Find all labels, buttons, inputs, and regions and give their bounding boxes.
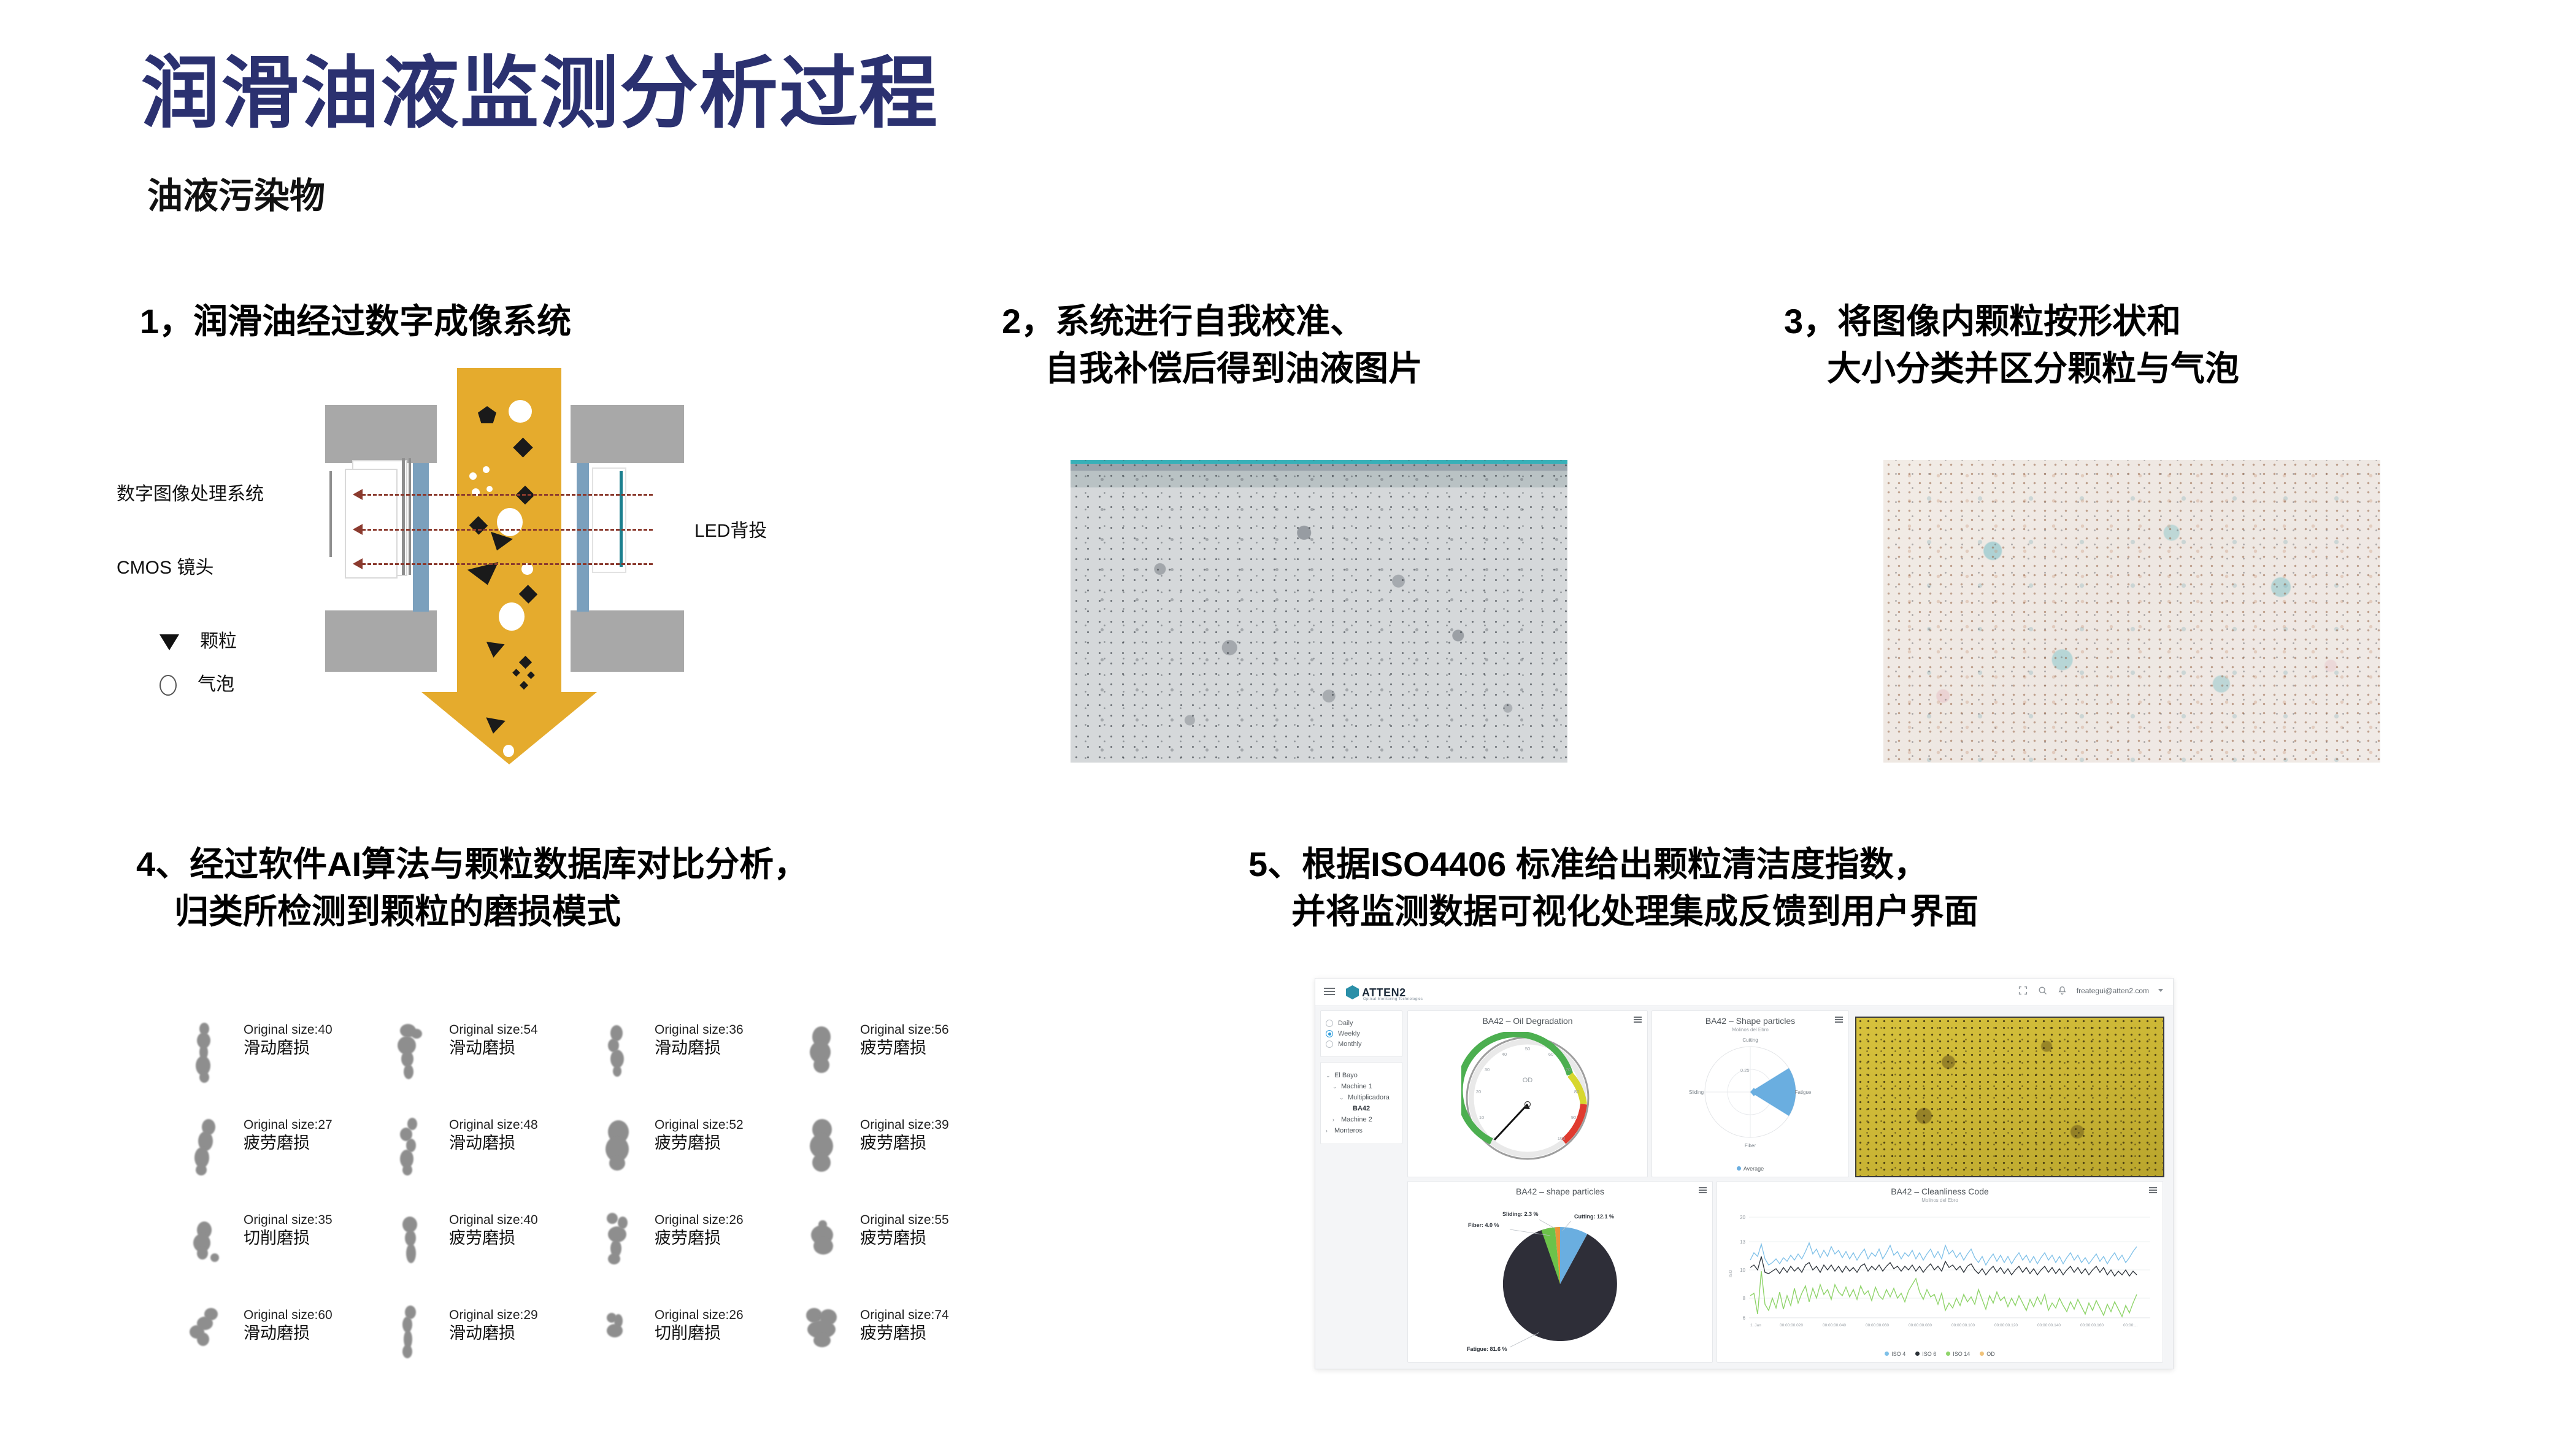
pie-chart: Cutting: 12.1 % Sliding: 2.3 % Fiber: 4.… — [1431, 1201, 1689, 1358]
tree-item-machine-1[interactable]: ⌄ Machine 1 — [1326, 1083, 1397, 1090]
svg-text:10: 10 — [1740, 1267, 1745, 1273]
svg-text:00:00:...: 00:00:... — [2123, 1323, 2138, 1328]
particle-blob-image — [592, 1020, 648, 1088]
svg-text:Sliding: Sliding — [1689, 1090, 1704, 1095]
particle-size-label: Original size:27 — [244, 1118, 333, 1133]
svg-text:30: 30 — [1485, 1067, 1490, 1072]
svg-text:Sliding: 2.3 %: Sliding: 2.3 % — [1502, 1211, 1539, 1217]
particle-wear-label: 切削磨损 — [244, 1228, 333, 1249]
panel-title: BA42 – shape particles — [1408, 1182, 1712, 1196]
particle-size-label: Original size:55 — [860, 1213, 949, 1228]
legend-dot-icon — [1737, 1166, 1741, 1171]
particle-blob-image — [592, 1115, 648, 1183]
light-ray — [362, 494, 653, 496]
particle-shape — [527, 671, 535, 679]
particle-size-label: Original size:26 — [655, 1308, 744, 1323]
svg-text:00:00:00.160: 00:00:00.160 — [2080, 1323, 2104, 1328]
particle-size-label: Original size:54 — [449, 1023, 538, 1038]
svg-text:00:00:00.100: 00:00:00.100 — [1951, 1323, 1975, 1328]
particle-blob-image — [181, 1020, 237, 1088]
bubble-shape — [469, 472, 477, 480]
oil-flow-channel — [457, 368, 561, 699]
legend-iso4[interactable]: ISO 4 — [1885, 1351, 1905, 1357]
oil-sample-image-step2 — [1071, 460, 1567, 763]
particle-card: Original size:35 切削磨损 — [175, 1199, 380, 1294]
svg-text:20: 20 — [1476, 1089, 1481, 1094]
particle-card: Original size:26 切削磨损 — [586, 1294, 791, 1390]
housing-block-bottom-right — [571, 610, 684, 672]
panel-shape-particles-pie: BA42 – shape particles — [1407, 1181, 1713, 1363]
chevron-down-icon[interactable] — [2158, 989, 2163, 992]
tree-item-machine-2[interactable]: › Machine 2 — [1326, 1116, 1397, 1123]
legend-dot-icon — [1946, 1352, 1950, 1356]
housing-block-top-left — [325, 405, 437, 463]
particle-size-label: Original size:39 — [860, 1118, 949, 1133]
legend-label: ISO 4 — [1891, 1351, 1905, 1357]
light-ray — [362, 529, 653, 531]
tree-item-label: Machine 1 — [1341, 1083, 1372, 1090]
svg-text:100: 100 — [1558, 1136, 1566, 1141]
particle-card: Original size:40 疲劳磨损 — [380, 1199, 586, 1294]
panel-title: BA42 – Oil Degradation — [1408, 1011, 1647, 1026]
particle-card: Original size:56 疲劳磨损 — [791, 1009, 997, 1104]
bubble-shape — [509, 400, 532, 423]
chevron-down-icon[interactable]: ⌄ — [1332, 1083, 1338, 1090]
step-5-line1: 5、根据ISO4406 标准给出颗粒清洁度指数， — [1248, 845, 1928, 883]
svg-text:Fiber: Fiber — [1745, 1143, 1756, 1148]
step-1-heading: 1，润滑油经过数字成像系统 — [140, 298, 571, 345]
particle-wear-label: 滑动磨损 — [655, 1038, 744, 1059]
svg-text:70: 70 — [1566, 1067, 1571, 1072]
legend-label: ISO 14 — [1953, 1351, 1970, 1357]
particle-blob-image — [386, 1210, 443, 1278]
tree-item-ba42[interactable]: BA42 — [1326, 1105, 1397, 1112]
led-emitter-bar — [620, 471, 623, 567]
tree-item-multiplicadora[interactable]: ⌄ Multiplicadora — [1326, 1094, 1397, 1101]
legend-dot-icon — [1885, 1352, 1889, 1356]
particle-classification-grid: Original size:40 滑动磨损 Original size:54 滑… — [175, 1009, 997, 1390]
particle-size-label: Original size:35 — [244, 1213, 333, 1228]
asset-tree-card: ⌄ El Bayo ⌄ Machine 1 ⌄ Multiplicadora B… — [1320, 1062, 1402, 1144]
particle-card: Original size:52 疲劳磨损 — [586, 1104, 791, 1199]
tree-item-label: Monteros — [1334, 1127, 1363, 1134]
legend-label: ISO 6 — [1922, 1351, 1936, 1357]
page-subtitle: 油液污染物 — [147, 167, 325, 218]
panel-subtitle: Molinos del Ebro — [1717, 1196, 2163, 1203]
particle-wear-label: 滑动磨损 — [244, 1038, 333, 1059]
panel-menu-icon[interactable] — [1699, 1187, 1707, 1193]
particle-size-label: Original size:52 — [655, 1118, 744, 1133]
particle-card: Original size:74 疲劳磨损 — [791, 1294, 997, 1390]
particle-size-label: Original size:26 — [655, 1213, 744, 1228]
topbar-actions: freategui@atten2.com — [2018, 985, 2163, 996]
panel-title: BA42 – Cleanliness Code — [1717, 1182, 2163, 1196]
particle-wear-label: 滑动磨损 — [449, 1038, 538, 1059]
radio-label: Monthly — [1338, 1040, 1362, 1048]
particle-wear-label: 疲劳磨损 — [655, 1133, 744, 1154]
particle-wear-label: 疲劳磨损 — [449, 1228, 538, 1249]
housing-block-bottom-left — [325, 610, 437, 672]
legend-label: Average — [1744, 1166, 1764, 1172]
radio-label: Weekly — [1338, 1030, 1360, 1037]
particle-blob-image — [592, 1306, 648, 1373]
svg-text:00:00:00.040: 00:00:00.040 — [1823, 1323, 1846, 1328]
particle-size-label: Original size:56 — [860, 1023, 949, 1038]
radio-icon[interactable] — [1326, 1040, 1333, 1048]
legend-iso6[interactable]: ISO 6 — [1915, 1351, 1936, 1357]
svg-text:OD: OD — [1523, 1077, 1533, 1084]
particle-size-label: Original size:40 — [449, 1213, 538, 1228]
particle-shape — [512, 669, 520, 677]
particle-card: Original size:29 滑动磨损 — [380, 1294, 586, 1390]
housing-block-top-right — [571, 405, 684, 463]
particle-card: Original size:26 疲劳磨损 — [586, 1199, 791, 1294]
glass-window-right — [577, 463, 589, 612]
svg-text:ISO: ISO — [1729, 1269, 1733, 1277]
svg-text:6: 6 — [1743, 1315, 1746, 1321]
legend-label: OD — [1986, 1351, 1995, 1357]
legend-bubble-label: 气泡 — [198, 674, 234, 694]
svg-text:50: 50 — [1525, 1046, 1530, 1052]
particle-blob-image — [386, 1306, 443, 1373]
chevron-down-icon[interactable]: ⌄ — [1339, 1094, 1345, 1101]
period-filter-card: Daily Weekly Monthly — [1320, 1010, 1402, 1057]
tree-item-label: BA42 — [1353, 1105, 1370, 1112]
menu-icon[interactable] — [1324, 988, 1335, 996]
step-2-heading: 2，系统进行自我校准、 自我补偿后得到油液图片 — [1002, 298, 1423, 393]
legend-particle: 颗粒 — [160, 626, 237, 653]
brand-tagline: Optical Monitoring Technologies — [1363, 998, 1423, 1001]
svg-text:60: 60 — [1548, 1052, 1553, 1057]
tree-item-label: Machine 2 — [1341, 1116, 1372, 1123]
step-5-line2: 并将监测数据可视化处理集成反馈到用户界面 — [1248, 888, 1978, 935]
step-3-line1: 3，将图像内颗粒按形状和 — [1784, 302, 2181, 340]
particle-shape — [469, 516, 488, 534]
step-4-line2: 归类所检测到颗粒的磨损模式 — [136, 888, 808, 935]
svg-text:00:00:00.020: 00:00:00.020 — [1780, 1323, 1803, 1328]
particle-wear-label: 疲劳磨损 — [860, 1228, 949, 1249]
particle-blob-image — [386, 1020, 443, 1088]
svg-text:0.25: 0.25 — [1740, 1067, 1750, 1073]
cmos-lens-plate — [409, 458, 411, 575]
particle-wear-label: 疲劳磨损 — [655, 1228, 744, 1249]
svg-text:00:00:00.060: 00:00:00.060 — [1866, 1323, 1889, 1328]
line-chart: 2013 1086 ISO 1. Jan 00:00:00.020 00:00:… — [1721, 1206, 2159, 1341]
dashboard-topbar: ATTEN2 Optical Monitoring Technologies — [1315, 979, 2173, 1006]
particle-shape — [520, 681, 528, 690]
panel-menu-icon[interactable] — [1634, 1017, 1642, 1023]
bubble-shape — [503, 745, 514, 757]
particle-wear-label: 疲劳磨损 — [244, 1133, 333, 1154]
step-5-heading: 5、根据ISO4406 标准给出颗粒清洁度指数， 并将监测数据可视化处理集成反馈… — [1248, 840, 1978, 936]
chevron-down-icon[interactable]: ⌄ — [1326, 1072, 1331, 1079]
particle-card: Original size:36 滑动磨损 — [586, 1009, 791, 1104]
svg-text:1. Jan: 1. Jan — [1750, 1323, 1761, 1328]
particle-card: Original size:27 疲劳磨损 — [175, 1104, 380, 1199]
user-email[interactable]: freategui@atten2.com — [2077, 986, 2149, 995]
particle-wear-label: 疲劳磨损 — [860, 1133, 949, 1154]
particle-blob-image — [386, 1115, 443, 1183]
svg-text:90: 90 — [1571, 1115, 1576, 1120]
tree-item-el-bayo[interactable]: ⌄ El Bayo — [1326, 1072, 1397, 1079]
particle-blob-image — [798, 1306, 854, 1373]
svg-text:00:00:00.080: 00:00:00.080 — [1909, 1323, 1932, 1328]
particle-card: Original size:60 滑动磨损 — [175, 1294, 380, 1390]
chevron-right-icon[interactable]: › — [1326, 1128, 1331, 1134]
panel-title: BA42 – Shape particles — [1652, 1011, 1848, 1026]
legend-od[interactable]: OD — [1980, 1351, 1995, 1357]
particle-shape — [519, 585, 537, 603]
step-4-heading: 4、经过软件AI算法与颗粒数据库对比分析， 归类所检测到颗粒的磨损模式 — [136, 840, 808, 936]
legend-bubble: 气泡 — [160, 669, 234, 696]
light-ray — [362, 563, 653, 565]
step-2-line2: 自我补偿后得到油液图片 — [1002, 345, 1423, 392]
particle-card: Original size:39 疲劳磨损 — [791, 1104, 997, 1199]
svg-text:40: 40 — [1502, 1052, 1507, 1057]
legend-dot-icon — [1980, 1352, 1984, 1356]
particle-blob-image — [798, 1210, 854, 1278]
atten2-dashboard-screenshot: ATTEN2 Optical Monitoring Technologies — [1315, 978, 2174, 1369]
processing-board-edge — [329, 471, 332, 557]
particle-blob-image — [181, 1210, 237, 1278]
light-ray-arrow-icon — [353, 558, 363, 569]
particle-wear-label: 疲劳磨损 — [860, 1323, 949, 1344]
svg-text:Fatigue: 81.6 %: Fatigue: 81.6 % — [1467, 1346, 1507, 1352]
particle-size-label: Original size:29 — [449, 1308, 538, 1323]
bubble-shape — [483, 466, 490, 473]
oil-microscope-image — [1856, 1018, 2163, 1176]
circle-outline-icon — [160, 675, 177, 696]
particle-card: Original size:54 滑动磨损 — [380, 1009, 586, 1104]
particle-shape — [467, 562, 503, 589]
particle-wear-label: 滑动磨损 — [244, 1323, 333, 1344]
particle-blob-image — [592, 1210, 648, 1278]
step-4-line1: 4、经过软件AI算法与颗粒数据库对比分析， — [136, 845, 808, 883]
bubble-shape — [497, 508, 523, 536]
chevron-right-icon[interactable]: › — [1332, 1117, 1338, 1123]
legend-dot-icon — [1915, 1352, 1920, 1356]
svg-text:Fatigue: Fatigue — [1795, 1090, 1812, 1095]
light-ray-arrow-icon — [353, 524, 363, 535]
imaging-system-diagram: 数字图像处理系统 CMOS 镜头 LED背投 颗粒 气泡 — [123, 368, 871, 773]
particle-blob-image — [181, 1306, 237, 1373]
svg-text:20: 20 — [1740, 1215, 1745, 1220]
radio-option-monthly[interactable]: Monthly — [1326, 1040, 1397, 1048]
tree-item-monteros[interactable]: › Monteros — [1326, 1127, 1397, 1134]
bubble-shape — [486, 486, 493, 492]
particle-shape — [478, 406, 496, 423]
particle-wear-label: 切削磨损 — [655, 1323, 744, 1344]
tree-item-label: Multiplicadora — [1348, 1094, 1390, 1101]
step-3-line2: 大小分类并区分颗粒与气泡 — [1784, 345, 2239, 392]
glass-window-left — [413, 463, 429, 612]
oil-sample-image-step3 — [1883, 460, 2380, 763]
svg-text:13: 13 — [1740, 1239, 1745, 1245]
particle-card: Original size:40 滑动磨损 — [175, 1009, 380, 1104]
gauge-chart: 50 4060 3070 2080 1090 0100 OD 0 — [1461, 1032, 1594, 1167]
slide-root: 润滑油液监测分析过程 油液污染物 1，润滑油经过数字成像系统 2，系统进行自我校… — [0, 0, 2576, 1446]
triangle-solid-icon — [160, 634, 179, 650]
particle-wear-label: 滑动磨损 — [449, 1323, 538, 1344]
legend-iso14[interactable]: ISO 14 — [1946, 1351, 1970, 1357]
svg-text:Cutting: Cutting — [1742, 1037, 1758, 1043]
panel-menu-icon[interactable] — [2149, 1187, 2157, 1193]
particle-size-label: Original size:40 — [244, 1023, 333, 1038]
radio-option-daily[interactable]: Daily — [1326, 1020, 1397, 1027]
particle-blob-image — [181, 1115, 237, 1183]
panel-subtitle: Molinos del Ebro — [1652, 1026, 1848, 1033]
particle-size-label: Original size:48 — [449, 1118, 538, 1133]
legend-particle-label: 颗粒 — [200, 631, 237, 652]
label-cmos-lens: CMOS 镜头 — [117, 552, 213, 579]
svg-text:00:00:00.140: 00:00:00.140 — [2037, 1323, 2061, 1328]
step-3-heading: 3，将图像内颗粒按形状和 大小分类并区分颗粒与气泡 — [1784, 298, 2239, 393]
radio-label: Daily — [1338, 1020, 1353, 1027]
panel-shape-particles-radar: BA42 – Shape particles Molinos del Ebro … — [1651, 1010, 1849, 1177]
step-2-line1: 2，系统进行自我校准、 — [1002, 302, 1364, 340]
svg-text:8: 8 — [1743, 1296, 1746, 1301]
svg-text:80: 80 — [1574, 1089, 1579, 1094]
microscope-image-frame — [1855, 1017, 2164, 1177]
fullscreen-icon[interactable] — [2018, 985, 2028, 996]
particle-blob-image — [798, 1020, 854, 1088]
line-legend: ISO 4 ISO 6 ISO 14 OD — [1717, 1351, 2163, 1357]
svg-text:10: 10 — [1479, 1115, 1484, 1120]
radio-option-weekly[interactable]: Weekly — [1326, 1030, 1397, 1037]
particle-shape — [513, 437, 533, 458]
radio-icon[interactable] — [1326, 1020, 1333, 1027]
panel-cleanliness-code: BA42 – Cleanliness Code Molinos del Ebro… — [1717, 1181, 2163, 1363]
svg-text:Fiber: 4.0 %: Fiber: 4.0 % — [1468, 1222, 1499, 1228]
particle-size-label: Original size:36 — [655, 1023, 744, 1038]
particle-size-label: Original size:74 — [860, 1308, 949, 1323]
radar-legend: Average — [1652, 1166, 1848, 1172]
particle-card: Original size:55 疲劳磨损 — [791, 1199, 997, 1294]
search-icon[interactable] — [2037, 985, 2048, 996]
svg-text:Cutting: 12.1 %: Cutting: 12.1 % — [1574, 1213, 1614, 1220]
step-1-line1: 1，润滑油经过数字成像系统 — [140, 302, 571, 340]
dashboard-sidebar: Daily Weekly Monthly ⌄ El Bayo ⌄ — [1320, 1010, 1402, 1144]
particle-card: Original size:48 滑动磨损 — [380, 1104, 586, 1199]
panel-oil-degradation: BA42 – Oil Degradation 50 4060 3070 — [1407, 1010, 1648, 1177]
cmos-sensor-plate — [402, 458, 405, 575]
radar-chart: Cutting Fatigue Fiber Sliding 0.25 — [1674, 1036, 1827, 1152]
page-title: 润滑油液监测分析过程 — [141, 29, 939, 143]
particle-blob-image — [798, 1115, 854, 1183]
particle-shape — [484, 642, 504, 659]
bubble-shape — [499, 602, 525, 631]
notification-bell-icon[interactable] — [2057, 985, 2067, 996]
panel-menu-icon[interactable] — [1835, 1017, 1843, 1023]
tree-item-label: El Bayo — [1334, 1072, 1358, 1079]
particle-size-label: Original size:60 — [244, 1308, 333, 1323]
light-ray-arrow-icon — [353, 489, 363, 500]
atten2-logo-icon — [1346, 985, 1359, 999]
svg-text:00:00:00.120: 00:00:00.120 — [1994, 1323, 2018, 1328]
particle-wear-label: 滑动磨损 — [449, 1133, 538, 1154]
particle-shape — [519, 656, 532, 669]
label-image-processing-system: 数字图像处理系统 — [117, 479, 264, 506]
label-led-backlight: LED背投 — [694, 515, 767, 542]
particle-wear-label: 疲劳磨损 — [860, 1038, 949, 1059]
radio-icon-selected[interactable] — [1326, 1030, 1333, 1037]
